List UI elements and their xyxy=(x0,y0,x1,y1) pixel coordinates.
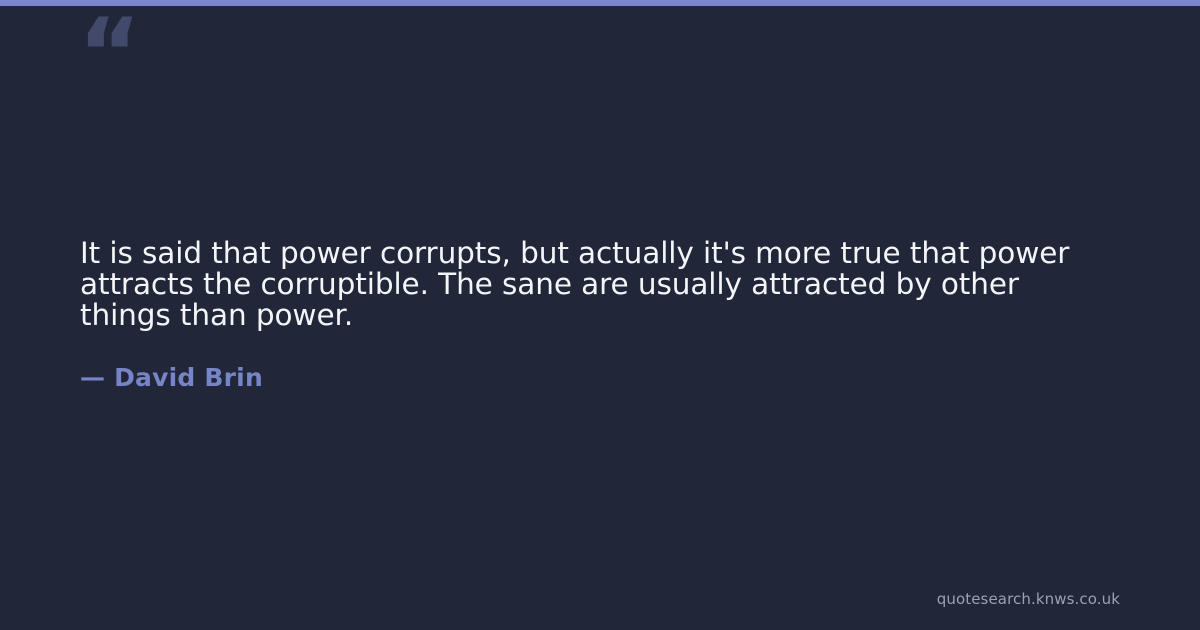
quote-card: “ It is said that power corrupts, but ac… xyxy=(0,0,1200,630)
quote-content-block: It is said that power corrupts, but actu… xyxy=(80,0,1120,630)
quote-author: David Brin xyxy=(114,364,263,392)
attribution-dash: — xyxy=(80,364,114,392)
site-watermark: quotesearch.knws.co.uk xyxy=(937,590,1120,608)
quote-attribution: — David Brin xyxy=(80,364,263,392)
quote-text: It is said that power corrupts, but actu… xyxy=(80,238,1110,331)
